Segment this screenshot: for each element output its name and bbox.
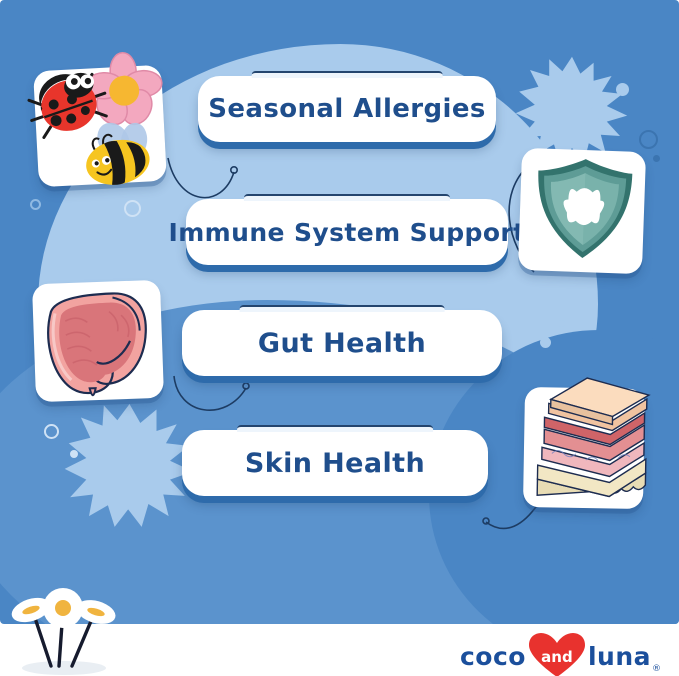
- card-tab: [244, 194, 450, 201]
- bubble-icon: [591, 104, 606, 119]
- card-tab: [237, 425, 433, 432]
- shield-cross-icon: [503, 131, 668, 292]
- infographic-canvas: Seasonal Allergies Immune System Support…: [0, 0, 679, 676]
- tile-immune-system-support: [518, 148, 646, 274]
- benefit-label: Skin Health: [245, 448, 425, 479]
- card-tab: [252, 71, 443, 78]
- tile-gut-health: [32, 280, 164, 402]
- benefit-card-gut-health[interactable]: Gut Health: [182, 310, 502, 376]
- intestine-icon: [17, 263, 182, 424]
- benefit-card-immune-system-support[interactable]: Immune System Support: [186, 199, 508, 265]
- bubble-icon: [70, 450, 78, 458]
- card-tab: [240, 305, 445, 312]
- benefit-card-seasonal-allergies[interactable]: Seasonal Allergies: [198, 76, 496, 142]
- skin-layers-icon: [509, 371, 672, 530]
- tile-skin-health: [523, 387, 645, 509]
- bubble-icon: [44, 424, 59, 439]
- tile-seasonal-allergies: [33, 65, 167, 188]
- dandelion-flowers-icon: [6, 582, 126, 676]
- bubble-icon: [616, 83, 629, 96]
- ladybug-bee-flower-icon: [18, 48, 186, 212]
- benefit-label: Seasonal Allergies: [208, 94, 486, 124]
- benefit-card-skin-health[interactable]: Skin Health: [182, 430, 488, 496]
- benefit-label: Immune System Support: [169, 218, 526, 247]
- benefit-label: Gut Health: [258, 328, 426, 359]
